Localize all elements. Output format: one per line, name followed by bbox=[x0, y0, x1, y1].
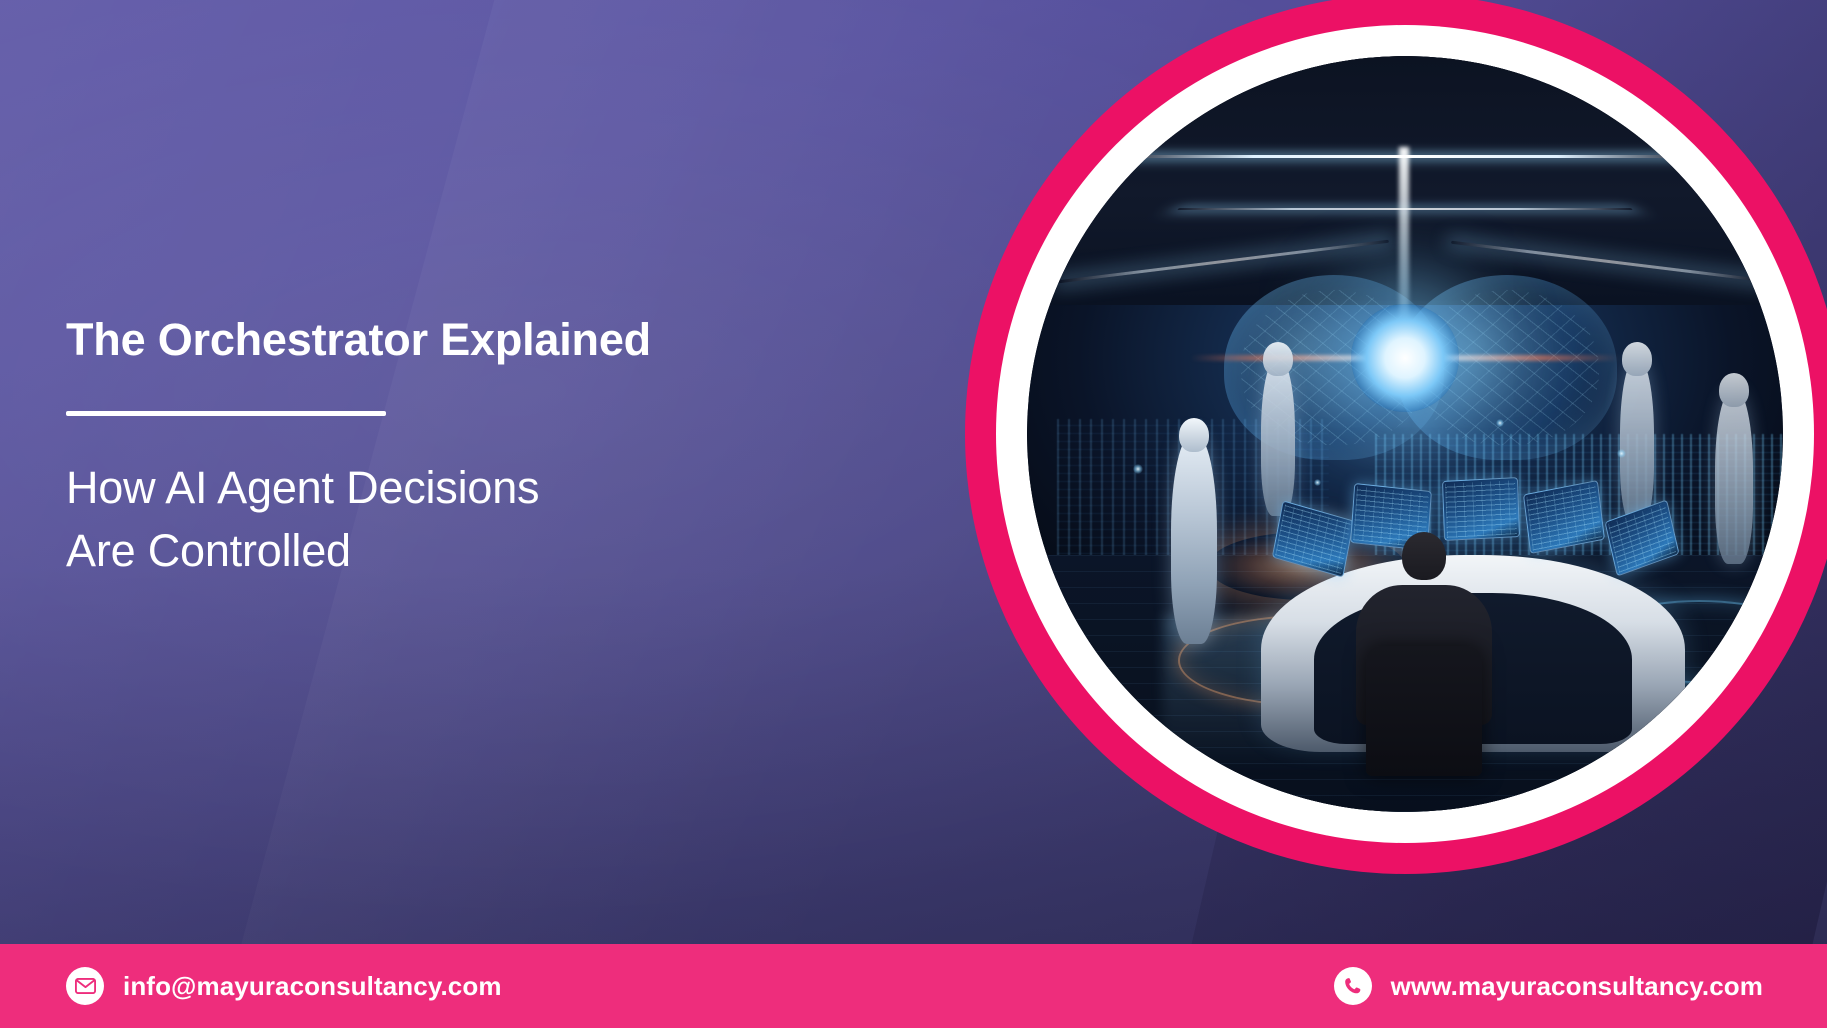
envelope-icon bbox=[66, 967, 104, 1005]
footer-bar: info@mayuraconsultancy.com www.mayuracon… bbox=[0, 944, 1827, 1028]
control-room-illustration bbox=[1027, 56, 1783, 812]
banner: The Orchestrator Explained How AI Agent … bbox=[0, 0, 1827, 1028]
humanoid-robot-foreground bbox=[1171, 434, 1217, 644]
robot-head bbox=[1719, 373, 1749, 407]
glow-spark bbox=[1617, 449, 1626, 458]
headline-block: The Orchestrator Explained How AI Agent … bbox=[66, 316, 826, 583]
robot-head bbox=[1263, 342, 1293, 376]
ai-core-orb bbox=[1351, 304, 1459, 412]
page-title: The Orchestrator Explained bbox=[66, 316, 826, 365]
console-monitor bbox=[1442, 477, 1520, 541]
humanoid-robot-right bbox=[1620, 358, 1654, 523]
robot-head bbox=[1622, 342, 1652, 376]
footer-website[interactable]: www.mayuraconsultancy.com bbox=[1334, 967, 1763, 1005]
humanoid-robot-podium bbox=[1261, 358, 1295, 516]
footer-website-label: www.mayuraconsultancy.com bbox=[1391, 971, 1763, 1002]
hero-image-control-room bbox=[1027, 56, 1783, 812]
page-subtitle: How AI Agent Decisions Are Controlled bbox=[66, 456, 826, 584]
humanoid-robot-far-right bbox=[1715, 389, 1753, 564]
operator-head bbox=[1402, 532, 1446, 580]
operator-chair bbox=[1366, 646, 1482, 776]
phone-icon bbox=[1334, 967, 1372, 1005]
glow-spark bbox=[1496, 419, 1504, 427]
title-divider bbox=[66, 411, 386, 416]
page-subtitle-line-1: How AI Agent Decisions bbox=[66, 456, 826, 520]
footer-email-label: info@mayuraconsultancy.com bbox=[123, 971, 502, 1002]
robot-head bbox=[1179, 418, 1209, 452]
hero-circle bbox=[965, 0, 1827, 874]
page-subtitle-line-2: Are Controlled bbox=[66, 519, 826, 583]
footer-email[interactable]: info@mayuraconsultancy.com bbox=[66, 967, 502, 1005]
